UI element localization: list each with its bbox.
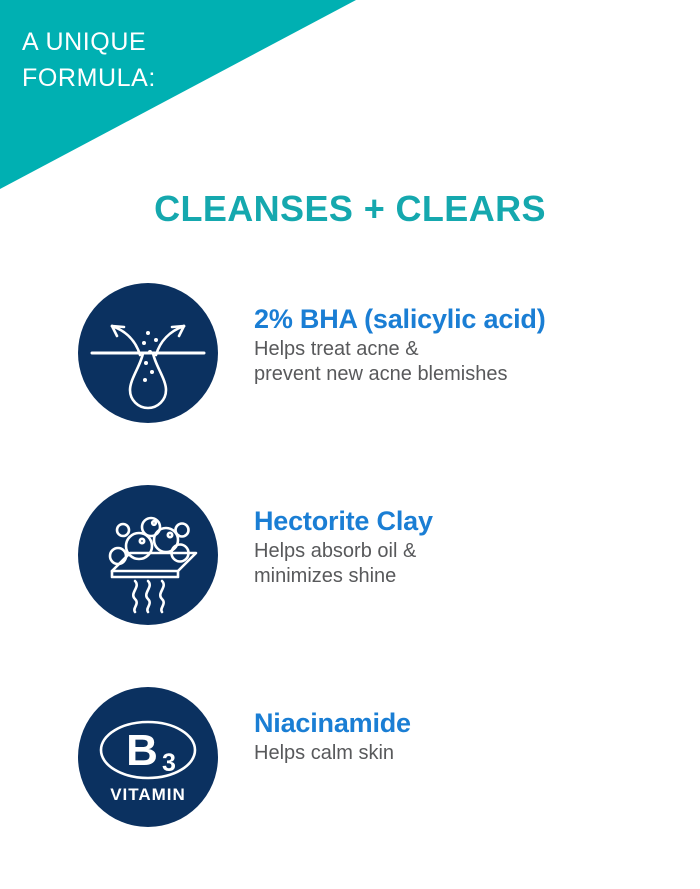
vitamin-label: VITAMIN xyxy=(110,785,186,804)
ingredient-description: Helps calm skin xyxy=(254,741,684,766)
pore-exfoliation-icon xyxy=(78,283,218,423)
banner-title-line-2: FORMULA: xyxy=(22,60,156,96)
ingredient-text-block: Niacinamide Helps calm skin xyxy=(254,707,684,766)
description-line: Helps absorb oil & xyxy=(254,539,684,564)
section-heading: CLEANSES + CLEARS xyxy=(0,188,700,230)
ingredient-title: Hectorite Clay xyxy=(254,505,684,537)
description-line: prevent new acne blemishes xyxy=(254,362,684,387)
ingredient-title: 2% BHA (salicylic acid) xyxy=(254,303,684,335)
ingredient-description: Helps absorb oil & minimizes shine xyxy=(254,539,684,589)
vitamin-letter: B xyxy=(126,726,158,775)
ingredient-item: Hectorite Clay Helps absorb oil & minimi… xyxy=(0,485,700,625)
description-line: Helps calm skin xyxy=(254,741,684,766)
oil-absorbing-clay-icon xyxy=(78,485,218,625)
top-banner: A UNIQUE FORMULA: xyxy=(0,0,700,195)
ingredient-item: B 3 VITAMIN Niacinamide Helps calm skin xyxy=(0,687,700,827)
banner-title-line-1: A UNIQUE xyxy=(22,24,156,60)
description-line: Helps treat acne & xyxy=(254,337,684,362)
banner-title: A UNIQUE FORMULA: xyxy=(22,24,156,96)
description-line: minimizes shine xyxy=(254,564,684,589)
vitamin-subscript: 3 xyxy=(162,749,176,777)
ingredient-description: Helps treat acne & prevent new acne blem… xyxy=(254,337,684,387)
ingredient-title: Niacinamide xyxy=(254,707,684,739)
ingredient-item: 2% BHA (salicylic acid) Helps treat acne… xyxy=(0,283,700,423)
ingredient-text-block: Hectorite Clay Helps absorb oil & minimi… xyxy=(254,505,684,589)
ingredient-text-block: 2% BHA (salicylic acid) Helps treat acne… xyxy=(254,303,684,387)
ingredient-list: 2% BHA (salicylic acid) Helps treat acne… xyxy=(0,283,700,889)
vitamin-b3-icon: B 3 VITAMIN xyxy=(78,687,218,827)
